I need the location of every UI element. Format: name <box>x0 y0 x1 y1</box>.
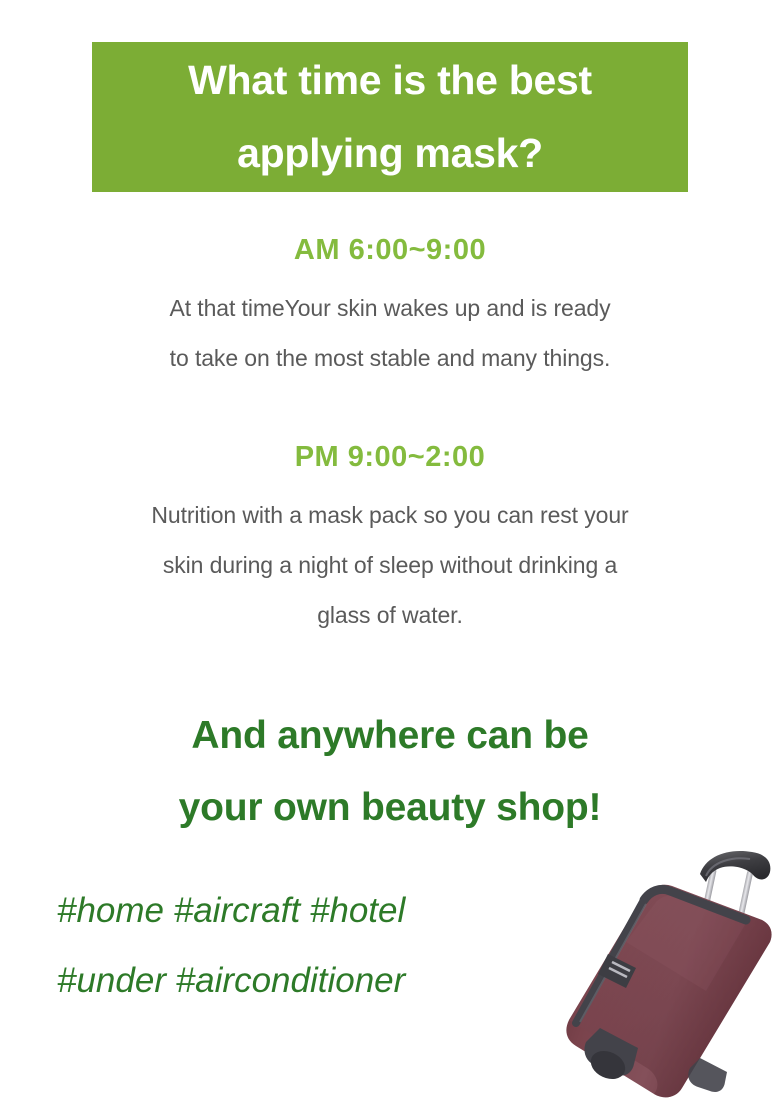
banner-title-line-2: applying mask? <box>237 133 543 174</box>
pm-body-line-3: glass of water. <box>0 590 780 640</box>
hashtag-line-2: #under #airconditioner <box>57 946 557 1016</box>
am-body-line-1: At that timeYour skin wakes up and is re… <box>0 283 780 333</box>
pm-body-line-2: skin during a night of sleep without dri… <box>0 540 780 590</box>
section-pm: PM 9:00~2:00 Nutrition with a mask pack … <box>0 443 780 640</box>
closing-headline: And anywhere can be your own beauty shop… <box>0 700 780 844</box>
am-time-heading: AM 6:00~9:00 <box>0 236 780 265</box>
hashtag-group: #home #aircraft #hotel #under #aircondit… <box>57 876 557 1016</box>
rolling-suitcase-illustration <box>556 846 780 1107</box>
banner-title-line-1: What time is the best <box>188 60 592 101</box>
hashtag-line-1: #home #aircraft #hotel <box>57 876 557 946</box>
headline-banner: What time is the best applying mask? <box>92 42 688 192</box>
am-body-line-2: to take on the most stable and many thin… <box>0 333 780 383</box>
section-am: AM 6:00~9:00 At that timeYour skin wakes… <box>0 236 780 383</box>
closing-headline-line-2: your own beauty shop! <box>0 772 780 844</box>
pm-body-line-1: Nutrition with a mask pack so you can re… <box>0 490 780 540</box>
pm-time-heading: PM 9:00~2:00 <box>0 443 780 472</box>
closing-headline-line-1: And anywhere can be <box>0 700 780 772</box>
